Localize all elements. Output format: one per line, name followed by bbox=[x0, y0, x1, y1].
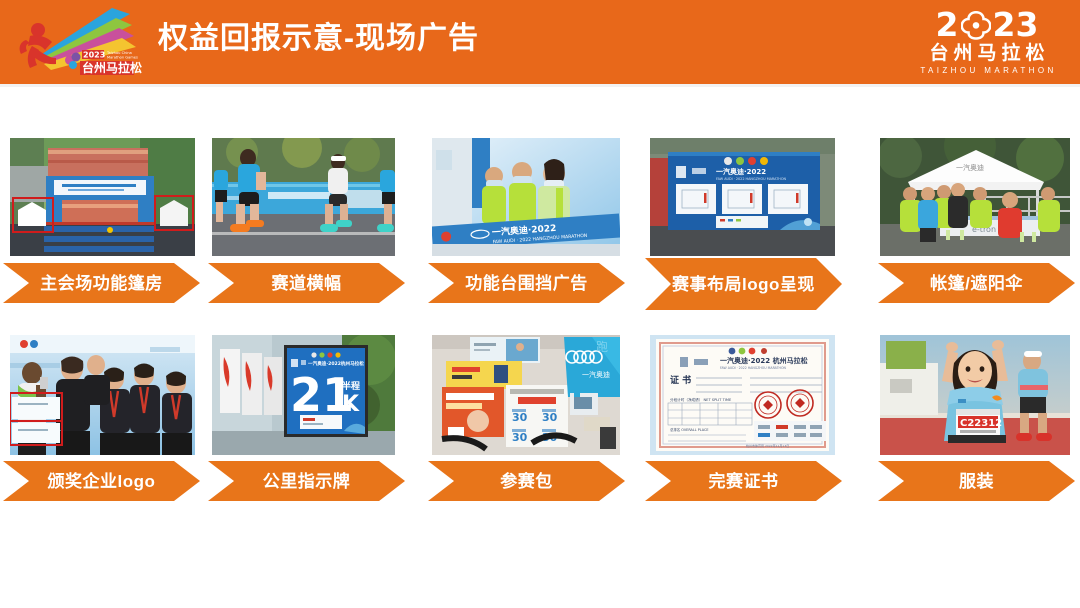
header-bar: 2023 Taizhou China Marathon Games 台州马拉松 … bbox=[0, 0, 1080, 84]
card-label: 赛道横幅 bbox=[246, 272, 368, 295]
card-label: 完赛证书 bbox=[683, 470, 805, 493]
card-label-chevron: 赛事布局logo呈现 bbox=[645, 258, 842, 310]
svg-text:一汽奥迪·2022: 一汽奥迪·2022 bbox=[716, 167, 766, 176]
card-label-chevron: 赛道横幅 bbox=[208, 263, 405, 303]
card-label: 主会场功能篷房 bbox=[14, 272, 189, 295]
header-divider bbox=[0, 84, 1080, 87]
card-label: 功能台围挡广告 bbox=[439, 272, 614, 295]
start-line-arch-with-tents-photo bbox=[10, 138, 195, 256]
card-label: 服装 bbox=[933, 470, 1020, 493]
svg-text:2023: 2023 bbox=[83, 51, 105, 60]
clover-icon bbox=[961, 10, 991, 40]
svg-text:30: 30 bbox=[542, 411, 558, 424]
svg-text:K: K bbox=[342, 392, 360, 417]
slide-root: 2023 Taizhou China Marathon Games 台州马拉松 … bbox=[0, 0, 1080, 608]
card-label-chevron: 参赛包 bbox=[428, 461, 625, 501]
svg-text:证 书: 证 书 bbox=[670, 374, 691, 386]
svg-text:30: 30 bbox=[512, 431, 528, 444]
page-title: 权益回报示意-现场广告 bbox=[158, 17, 479, 61]
svg-text:台州马拉松: 台州马拉松 bbox=[82, 60, 142, 75]
card-label: 帐篷/遮阳伞 bbox=[904, 272, 1049, 295]
svg-text:FAW AUDI · 2022 HANGZHOU MARAT: FAW AUDI · 2022 HANGZHOU MARATHON bbox=[716, 177, 786, 181]
finisher-runner-celebrating-photo: C22312 bbox=[880, 335, 1070, 455]
svg-text:跑: 跑 bbox=[596, 340, 608, 354]
card-label-chevron: 公里指示牌 bbox=[208, 461, 405, 501]
svg-text:总排名 OVERALL PLACE: 总排名 OVERALL PLACE bbox=[670, 427, 709, 432]
logo-year-right: 23 bbox=[993, 8, 1039, 42]
event-layout-info-board-photo: 一汽奥迪·2022 FAW AUDI · 2022 HANGZHOU MARAT… bbox=[650, 138, 835, 256]
svg-text:C22312: C22312 bbox=[960, 418, 1002, 429]
logo-year: 2 23 bbox=[904, 8, 1070, 42]
svg-text:一汽奥迪: 一汽奥迪 bbox=[956, 163, 984, 172]
card-label-chevron: 颁奖企业logo bbox=[3, 461, 200, 501]
card-label: 公里指示牌 bbox=[237, 470, 377, 493]
race-pack-contents-photo: 30 30 30 30 一汽奥迪 跑 bbox=[432, 335, 620, 455]
taizhou-marathon-2023-logo: 2 23 台州马拉松 TAIZHOU MARATHON bbox=[904, 8, 1070, 78]
card-label: 参赛包 bbox=[474, 470, 579, 493]
card-label-chevron: 主会场功能篷房 bbox=[3, 263, 200, 303]
card-label: 颁奖企业logo bbox=[22, 470, 182, 493]
svg-text:一汽奥迪·2022 杭州马拉松: 一汽奥迪·2022 杭州马拉松 bbox=[720, 356, 808, 365]
aid-station-white-tent-photo: 一汽奥迪 e-tron bbox=[880, 138, 1070, 256]
logo-year-left: 2 bbox=[936, 8, 959, 42]
card-label-chevron: 功能台围挡广告 bbox=[428, 263, 625, 303]
svg-text:一汽奥迪: 一汽奥迪 bbox=[582, 370, 610, 379]
svg-text:半程: 半程 bbox=[342, 380, 360, 392]
card-label-chevron: 帐篷/遮阳伞 bbox=[878, 263, 1075, 303]
award-ceremony-podium-photo bbox=[10, 335, 195, 455]
volunteers-behind-sponsor-banner-photo: 一汽奥迪·2022 FAW AUDI · 2022 HANGZHOU MARAT… bbox=[432, 138, 620, 256]
finisher-certificate-photo: 一汽奥迪·2022 杭州马拉松 FAW AUDI · 2022 HANGZHOU… bbox=[650, 335, 835, 455]
svg-text:Marathon Games: Marathon Games bbox=[107, 56, 138, 60]
taizhou-marathon-runner-logo: 2023 Taizhou China Marathon Games 台州马拉松 bbox=[12, 6, 142, 78]
card-label: 赛事布局logo呈现 bbox=[646, 273, 841, 296]
svg-text:杭州市体育局 2022年11月13日: 杭州市体育局 2022年11月13日 bbox=[746, 443, 789, 448]
svg-text:Taizhou China: Taizhou China bbox=[106, 51, 132, 55]
svg-text:一汽奥迪·2022杭州马拉松: 一汽奥迪·2022杭州马拉松 bbox=[308, 360, 364, 367]
runners-passing-course-banner-photo bbox=[212, 138, 395, 256]
svg-text:FAW AUDI · 2022 HANGZHOU MARAT: FAW AUDI · 2022 HANGZHOU MARATHON bbox=[720, 366, 786, 370]
logo-en-text: TAIZHOU MARATHON bbox=[904, 65, 1070, 76]
svg-text:分段计时（净成绩） NET SPLIT TIME: 分段计时（净成绩） NET SPLIT TIME bbox=[670, 397, 732, 402]
kilometer-marker-sign-photo: 一汽奥迪·2022杭州马拉松 21 半程 K bbox=[212, 335, 395, 455]
card-label-chevron: 服装 bbox=[878, 461, 1075, 501]
logo-cn-text: 台州马拉松 bbox=[904, 43, 1070, 65]
card-label-chevron: 完赛证书 bbox=[645, 461, 842, 501]
svg-text:30: 30 bbox=[512, 411, 528, 424]
